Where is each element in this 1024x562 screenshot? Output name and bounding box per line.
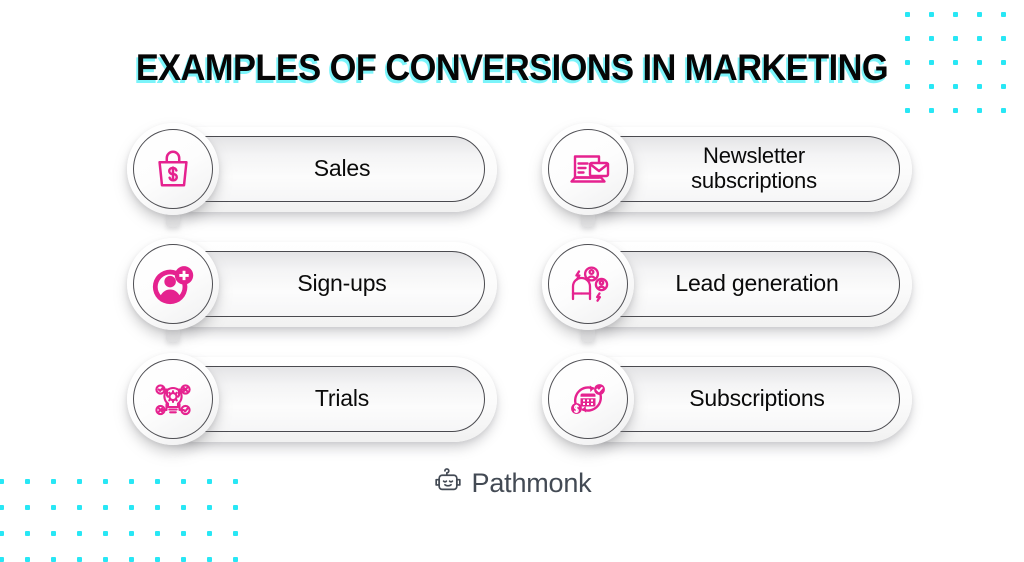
decorative-dot — [155, 557, 160, 562]
decorative-dot — [1001, 60, 1006, 65]
conversion-examples-grid: Sales Newsletter subscriptions — [127, 123, 917, 446]
decorative-dot — [181, 557, 186, 562]
decorative-dot — [0, 531, 4, 536]
decorative-dot — [77, 505, 82, 510]
card-newsletter-subscriptions[interactable]: Newsletter subscriptions — [542, 123, 912, 216]
decorative-dot — [929, 108, 934, 113]
decorative-dot — [929, 12, 934, 17]
decorative-dot — [155, 479, 160, 484]
card-sales[interactable]: Sales — [127, 123, 497, 216]
card-label: Sign-ups — [251, 271, 400, 297]
card-label: Sales — [268, 156, 385, 182]
decorative-dot — [953, 36, 958, 41]
card-label: Newsletter subscriptions — [651, 144, 831, 193]
decorative-dot — [25, 479, 30, 484]
decorative-dot — [233, 557, 238, 562]
lightbulb-gear-test-icon — [127, 353, 219, 445]
decorative-dot — [0, 557, 4, 562]
card-label: Trials — [269, 386, 383, 412]
decorative-dot — [129, 479, 134, 484]
decorative-dot — [77, 479, 82, 484]
decorative-dot — [0, 505, 4, 510]
decorative-dot — [953, 108, 958, 113]
decorative-dot — [207, 479, 212, 484]
decorative-dot — [51, 557, 56, 562]
user-plus-icon — [127, 238, 219, 330]
decorative-dot — [155, 531, 160, 536]
card-label: Subscriptions — [643, 386, 838, 412]
decorative-dot — [977, 36, 982, 41]
decorative-dot — [51, 505, 56, 510]
decorative-dot — [1001, 12, 1006, 17]
decorative-dot — [905, 12, 910, 17]
decorative-dot — [1001, 84, 1006, 89]
decorative-dot — [103, 505, 108, 510]
page-title: EXAMPLES OF CONVERSIONS IN MARKETING — [36, 47, 988, 89]
decorative-dot — [181, 505, 186, 510]
decorative-dot — [207, 557, 212, 562]
decorative-dot — [25, 505, 30, 510]
laptop-envelope-icon — [542, 123, 634, 215]
decorative-dot — [977, 12, 982, 17]
decorative-dot — [233, 505, 238, 510]
decorative-dot — [103, 479, 108, 484]
decorative-dot — [51, 531, 56, 536]
card-label: Lead generation — [629, 271, 852, 297]
decorative-dot — [181, 531, 186, 536]
decorative-dot — [929, 36, 934, 41]
card-lead-generation[interactable]: Lead generation — [542, 238, 912, 331]
decorative-dot — [103, 531, 108, 536]
decorative-dot — [155, 505, 160, 510]
decorative-dot — [905, 108, 910, 113]
decorative-dot — [233, 479, 238, 484]
decorative-dot — [207, 531, 212, 536]
decorative-dot — [51, 479, 56, 484]
decorative-dot — [25, 557, 30, 562]
decorative-dot — [181, 479, 186, 484]
decorative-dot — [103, 557, 108, 562]
decorative-dot — [77, 557, 82, 562]
shopping-bag-dollar-icon — [127, 123, 219, 215]
decorative-dot — [77, 531, 82, 536]
decorative-dot — [953, 12, 958, 17]
decorative-dot — [905, 36, 910, 41]
brand-name: Pathmonk — [472, 468, 592, 499]
decorative-dot — [1001, 36, 1006, 41]
decorative-dot — [129, 531, 134, 536]
decorative-dot — [1001, 108, 1006, 113]
decorative-dot — [129, 505, 134, 510]
card-subscriptions[interactable]: Subscriptions — [542, 353, 912, 446]
card-sign-ups[interactable]: Sign-ups — [127, 238, 497, 331]
decorative-dot — [977, 108, 982, 113]
decorative-dot — [25, 531, 30, 536]
recurring-calendar-icon — [542, 353, 634, 445]
decorative-dot — [207, 505, 212, 510]
decorative-dot — [233, 531, 238, 536]
decorative-dots-bottom-left — [0, 479, 238, 562]
decorative-dot — [0, 479, 4, 484]
robot-head-icon — [433, 466, 463, 501]
magnet-leads-icon — [542, 238, 634, 330]
decorative-dot — [129, 557, 134, 562]
card-trials[interactable]: Trials — [127, 353, 497, 446]
